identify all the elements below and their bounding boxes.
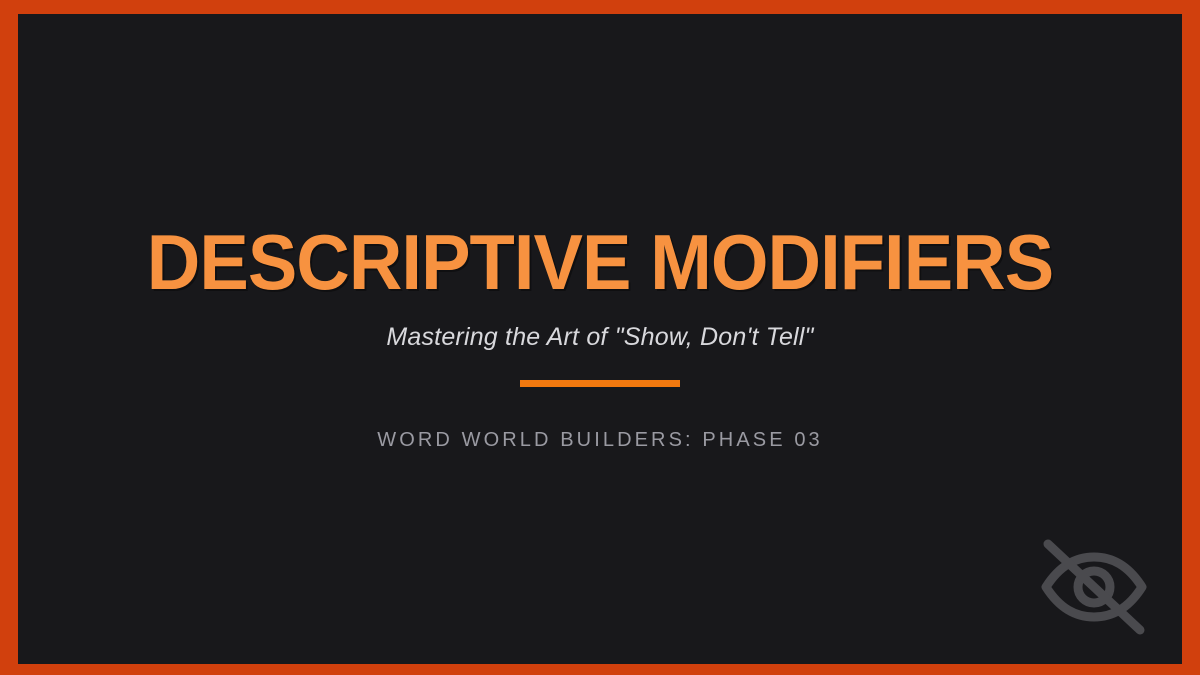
slide-footer-label: WORD WORLD BUILDERS: PHASE 03 (18, 426, 1182, 454)
slide-content-area: DESCRIPTIVE MODIFIERS Mastering the Art … (18, 14, 1182, 664)
eye-off-icon (1030, 532, 1158, 642)
slide-subtitle: Mastering the Art of "Show, Don't Tell" (18, 320, 1182, 354)
presentation-slide: DESCRIPTIVE MODIFIERS Mastering the Art … (0, 0, 1200, 675)
page-title: DESCRIPTIVE MODIFIERS (47, 220, 1153, 304)
divider-container (18, 380, 1182, 387)
accent-divider (520, 380, 680, 387)
